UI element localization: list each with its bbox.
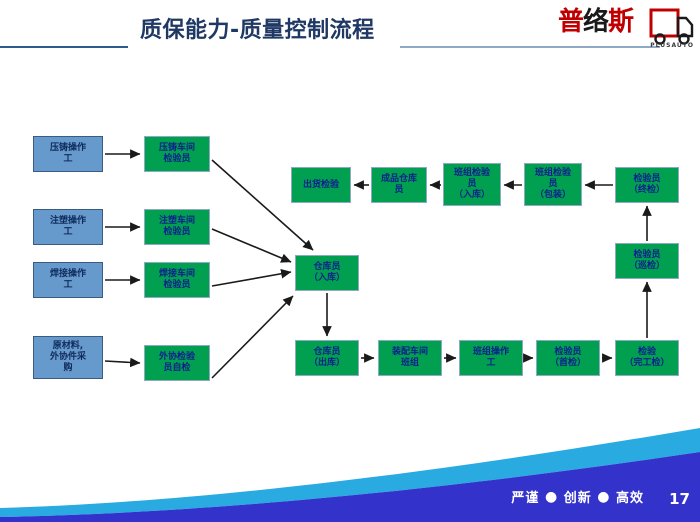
flow-node-label: 注塑操作工 <box>50 216 86 238</box>
slogan-part-2: 创新 <box>564 491 592 506</box>
flow-node-label: 检验员（巡检） <box>629 250 665 272</box>
flow-node-label: 焊接车间检验员 <box>159 269 195 291</box>
flow-node-assembly-team: 装配车间班组 <box>378 340 442 376</box>
flow-node-final-work-inspection: 检验（完工检） <box>615 340 679 376</box>
logo-char-1: 普 <box>558 7 583 37</box>
flow-node-insp-outsourced: 外协检验员自检 <box>144 345 210 381</box>
flow-node-final-inspection: 检验员（终检） <box>615 167 679 203</box>
flow-node-team-insp-instock: 班组检验员（入库） <box>443 163 501 206</box>
company-logo: 普络斯 PLUSAUTO <box>558 4 694 50</box>
flow-node-op-diecast: 压铸操作工 <box>33 136 103 172</box>
flow-node-op-purchasing: 原材料,外协件采购 <box>33 336 103 379</box>
slide-canvas: 质保能力-质量控制流程 普络斯 PLUSAUTO 严谨 ● 创新 ● 高效 17 <box>0 0 700 522</box>
flow-node-finished-warehouse: 成品仓库员 <box>371 167 427 203</box>
flow-node-insp-diecast: 压铸车间检验员 <box>144 136 210 172</box>
flow-node-op-welding: 焊接操作工 <box>33 262 103 298</box>
flow-node-first-inspection: 检验员（首检） <box>536 340 600 376</box>
flow-node-label: 外协检验员自检 <box>159 352 195 374</box>
flow-node-label: 焊接操作工 <box>50 269 86 291</box>
flow-node-insp-welding: 焊接车间检验员 <box>144 262 210 298</box>
slogan-part-3: 高效 <box>616 491 644 506</box>
flow-node-shipping-inspection: 出货检验 <box>291 167 351 203</box>
flow-node-insp-injection: 注塑车间检验员 <box>144 209 210 245</box>
flow-node-label: 班组检验员（入库） <box>454 168 490 201</box>
flow-node-label: 成品仓库员 <box>381 174 417 196</box>
flow-node-label: 装配车间班组 <box>392 347 428 369</box>
page-title: 质保能力-质量控制流程 <box>140 12 375 44</box>
flow-node-label: 检验员（首检） <box>550 347 586 369</box>
header-rule-left <box>0 46 128 48</box>
flow-node-team-insp-packing: 班组检验员（包装） <box>524 163 582 206</box>
flow-node-patrol-inspection: 检验员（巡检） <box>615 243 679 279</box>
footer-slogan: 严谨 ● 创新 ● 高效 <box>511 487 644 506</box>
slide-header: 质保能力-质量控制流程 普络斯 PLUSAUTO <box>0 0 700 60</box>
flow-node-label: 原材料,外协件采购 <box>50 341 86 374</box>
flow-node-label: 班组操作工 <box>473 347 509 369</box>
page-number: 17 <box>669 490 690 508</box>
flow-node-wh-in: 仓库员（入库） <box>295 255 359 291</box>
flow-node-label: 仓库员（出库） <box>309 347 345 369</box>
flow-node-op-injection: 注塑操作工 <box>33 209 103 245</box>
flow-node-label: 班组检验员（包装） <box>535 168 571 201</box>
flow-node-label: 检验（完工检） <box>624 347 669 369</box>
flow-node-wh-out: 仓库员（出库） <box>295 340 359 376</box>
flow-node-label: 检验员（终检） <box>629 174 665 196</box>
flow-node-label: 压铸车间检验员 <box>159 143 195 165</box>
arrow-op-purchase <box>105 361 140 363</box>
logo-char-2: 络 <box>583 7 608 37</box>
arrow-insp-outsourced-to-wh <box>212 296 293 378</box>
bullet-dot-1: ● <box>545 489 558 505</box>
flow-node-label: 压铸操作工 <box>50 143 86 165</box>
bullet-dot-2: ● <box>597 489 610 505</box>
logo-char-3: 斯 <box>608 7 633 37</box>
flow-node-label: 出货检验 <box>303 180 339 191</box>
flow-node-label: 注塑车间检验员 <box>159 216 195 238</box>
arrow-insp-injection-to-wh <box>212 229 291 262</box>
flow-node-label: 仓库员（入库） <box>309 262 345 284</box>
slogan-part-1: 严谨 <box>511 491 539 506</box>
logo-subtitle: PLUSAUTO <box>650 42 694 49</box>
arrow-insp-welding-to-wh <box>212 272 291 286</box>
logo-wordmark: 普络斯 <box>558 7 633 37</box>
flow-node-team-operator: 班组操作工 <box>459 340 523 376</box>
